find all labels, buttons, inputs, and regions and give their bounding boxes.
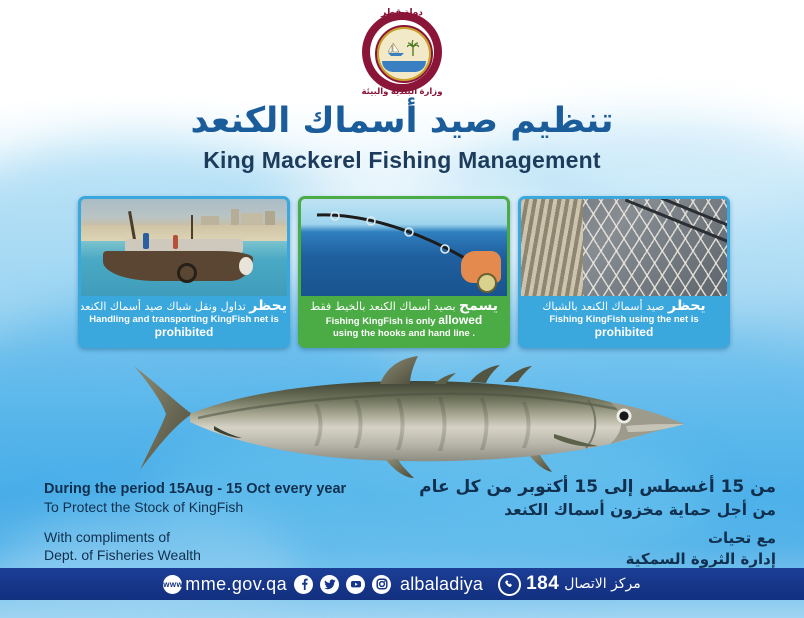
twitter-icon[interactable] xyxy=(320,575,339,594)
rule-card-caption: يحظر تداول ونقل شباك صيد أسماك الكنعد Ha… xyxy=(81,297,287,345)
caption-arabic: يحظر صيد أسماك الكنعد بالشباك xyxy=(521,299,727,314)
rule-card-caption: يحظر صيد أسماك الكنعد بالشباك Fishing Ki… xyxy=(521,297,727,345)
page-title-arabic: تنظيم صيد أسماك الكنعد xyxy=(0,104,804,139)
photo-boat-buoy xyxy=(239,257,253,275)
caption-english-pre: Fishing KingFish using the net is xyxy=(549,314,698,325)
youtube-icon[interactable] xyxy=(346,575,365,594)
footer-bar: www mme.gov.qa albaladiya 184 مركز الاتص… xyxy=(0,568,804,600)
emblem-seal xyxy=(375,25,433,83)
caption-english: Fishing KingFish is only allowed xyxy=(301,314,507,328)
website-link[interactable]: www mme.gov.qa xyxy=(163,574,287,595)
caption-english-pre: Handling and transporting KingFish net i… xyxy=(89,314,278,325)
social-handle[interactable]: albaladiya xyxy=(400,574,483,595)
caption-english-keyword: prohibited xyxy=(595,325,654,339)
fishing-net-mesh-photo xyxy=(521,199,727,296)
notice-english: During the period 15Aug - 15 Oct every y… xyxy=(44,480,346,564)
call-center-number: 184 xyxy=(526,573,559,595)
caption-arabic: يحظر تداول ونقل شباك صيد أسماك الكنعد xyxy=(81,299,287,314)
fishing-rod-hand-line-photo xyxy=(301,199,507,296)
call-center-label: مركز الاتصال xyxy=(564,576,640,592)
emblem-palm-icon xyxy=(407,40,419,56)
photo-net-rope-bundle xyxy=(521,199,583,296)
website-url: mme.gov.qa xyxy=(185,574,287,595)
facebook-icon[interactable] xyxy=(294,575,313,594)
caption-arabic-keyword: يحظر xyxy=(249,298,287,314)
caption-arabic-rest: بصيد أسماك الكنعد بالخيط فقط xyxy=(310,300,456,313)
emblem-arc-top-text: دولة قطر xyxy=(355,7,449,18)
photo-fisherman xyxy=(173,235,178,249)
photo-fisherman xyxy=(143,233,149,249)
rules-card-row: يحظر تداول ونقل شباك صيد أسماك الكنعد Ha… xyxy=(78,196,730,342)
photo-skyline xyxy=(81,207,287,227)
phone-icon xyxy=(498,573,521,596)
notice-ar-line3: مع تحيات xyxy=(419,528,776,549)
notice-arabic: من 15 أغسطس إلى 15 أكتوبر من كل عام من أ… xyxy=(419,476,776,570)
caption-arabic-rest: تداول ونقل شباك صيد أسماك الكنعد xyxy=(80,300,246,313)
notice-en-line3: With compliments of xyxy=(44,528,346,546)
king-mackerel-illustration xyxy=(118,352,694,478)
emblem-arc-bottom-text: وزارة البلدية والبيئة xyxy=(355,86,449,97)
caption-arabic-rest: صيد أسماك الكنعد بالشباك xyxy=(542,300,664,313)
instagram-icon[interactable] xyxy=(372,575,391,594)
caption-english-keyword: allowed xyxy=(438,313,482,327)
caption-arabic-keyword: يسمح xyxy=(459,298,498,314)
emblem-dhow-icon xyxy=(386,41,406,57)
caption-english: Fishing KingFish using the net is prohib… xyxy=(521,314,727,340)
caption-arabic: يسمح بصيد أسماك الكنعد بالخيط فقط xyxy=(301,299,507,314)
notice-en-line2: To Protect the Stock of KingFish xyxy=(44,498,346,516)
page-title-english: King Mackerel Fishing Management xyxy=(0,147,804,174)
caption-arabic-keyword: يحظر xyxy=(668,298,706,314)
notice-en-line4: Dept. of Fisheries Wealth xyxy=(44,546,346,564)
notice-ar-line2: من أجل حماية مخزون أسماك الكنعد xyxy=(419,499,776,521)
emblem-sea-shape xyxy=(382,61,426,72)
caption-english-keyword: prohibited xyxy=(155,325,214,339)
call-center-info[interactable]: 184 مركز الاتصال xyxy=(498,573,641,596)
photo-fishing-reel xyxy=(477,273,497,293)
qatar-ministry-emblem: دولة قطر وزارة البلدية والبيئة xyxy=(355,8,449,104)
poster-root: دولة قطر وزارة البلدية والبيئة تنظيم صيد… xyxy=(0,0,804,618)
header-emblem-area: دولة قطر وزارة البلدية والبيئة xyxy=(0,8,804,104)
caption-english-line2: using the hooks and hand line . xyxy=(301,328,507,340)
caption-english: Handling and transporting KingFish net i… xyxy=(81,314,287,340)
notice-ar-line4: إدارة الثروة السمكية xyxy=(419,549,776,570)
notice-en-line1: During the period 15Aug - 15 Oct every y… xyxy=(44,480,346,498)
rule-card-caption: يسمح بصيد أسماك الكنعد بالخيط فقط Fishin… xyxy=(301,297,507,345)
rule-card-hook-and-line: يسمح بصيد أسماك الكنعد بالخيط فقط Fishin… xyxy=(298,196,510,348)
dhow-fishing-boat-photo xyxy=(81,199,287,296)
photo-boat-tire-fender xyxy=(177,263,197,283)
www-icon: www xyxy=(163,575,182,594)
notice-ar-line1: من 15 أغسطس إلى 15 أكتوبر من كل عام xyxy=(419,476,776,499)
rule-card-handling-transport: يحظر تداول ونقل شباك صيد أسماك الكنعد Ha… xyxy=(78,196,290,348)
skyline-shapes xyxy=(81,207,287,227)
rule-card-net-prohibited: يحظر صيد أسماك الكنعد بالشباك Fishing Ki… xyxy=(518,196,730,348)
caption-english-pre: Fishing KingFish is only xyxy=(326,316,436,327)
